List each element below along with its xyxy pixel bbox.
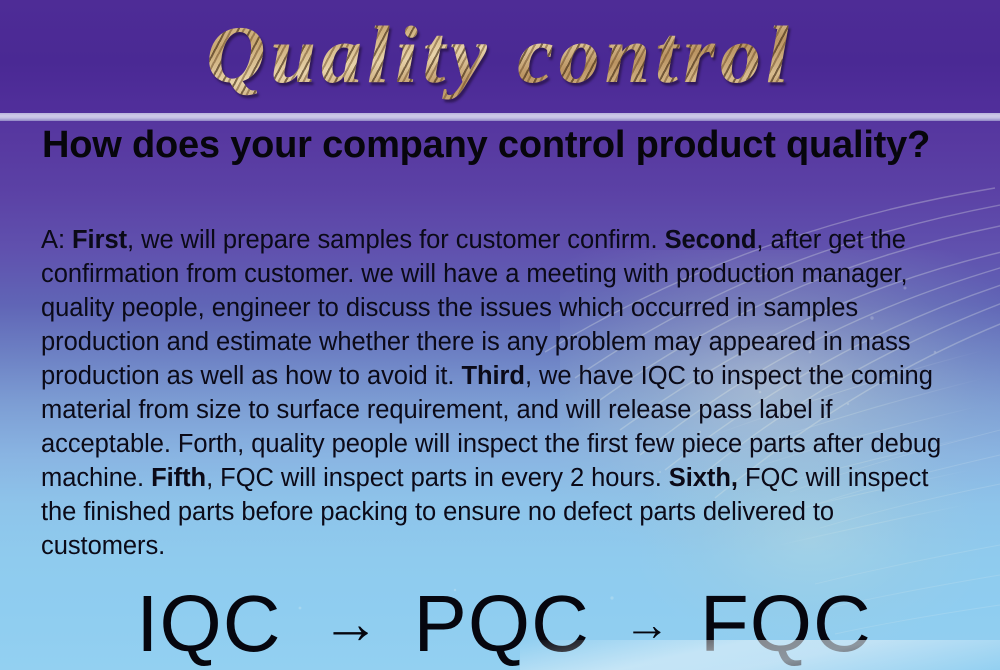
- answer-keyword: First: [72, 226, 127, 254]
- header-banner: Quality control: [0, 0, 1000, 113]
- page-title: Quality control: [0, 7, 1000, 103]
- answer-keyword: Sixth,: [669, 464, 738, 492]
- flow-step-iqc: IQC: [136, 581, 281, 667]
- process-flow: IQC → PQC → FQC: [0, 578, 1000, 670]
- answer-keyword: Third: [461, 362, 525, 390]
- header-divider: [0, 113, 1000, 121]
- answer-paragraph: A: First, we will prepare samples for cu…: [41, 223, 951, 563]
- answer-keyword: Fifth: [151, 464, 206, 492]
- arrow-right-icon: →: [322, 581, 380, 667]
- arrow-right-icon-2: →: [624, 581, 670, 667]
- question-heading: How does your company control product qu…: [42, 122, 947, 169]
- flow-step-fqc: FQC: [700, 581, 872, 667]
- answer-keyword: Second: [665, 226, 757, 254]
- quality-control-slide: Quality control How does your company co…: [0, 0, 1000, 670]
- flow-step-pqc: PQC: [414, 581, 590, 667]
